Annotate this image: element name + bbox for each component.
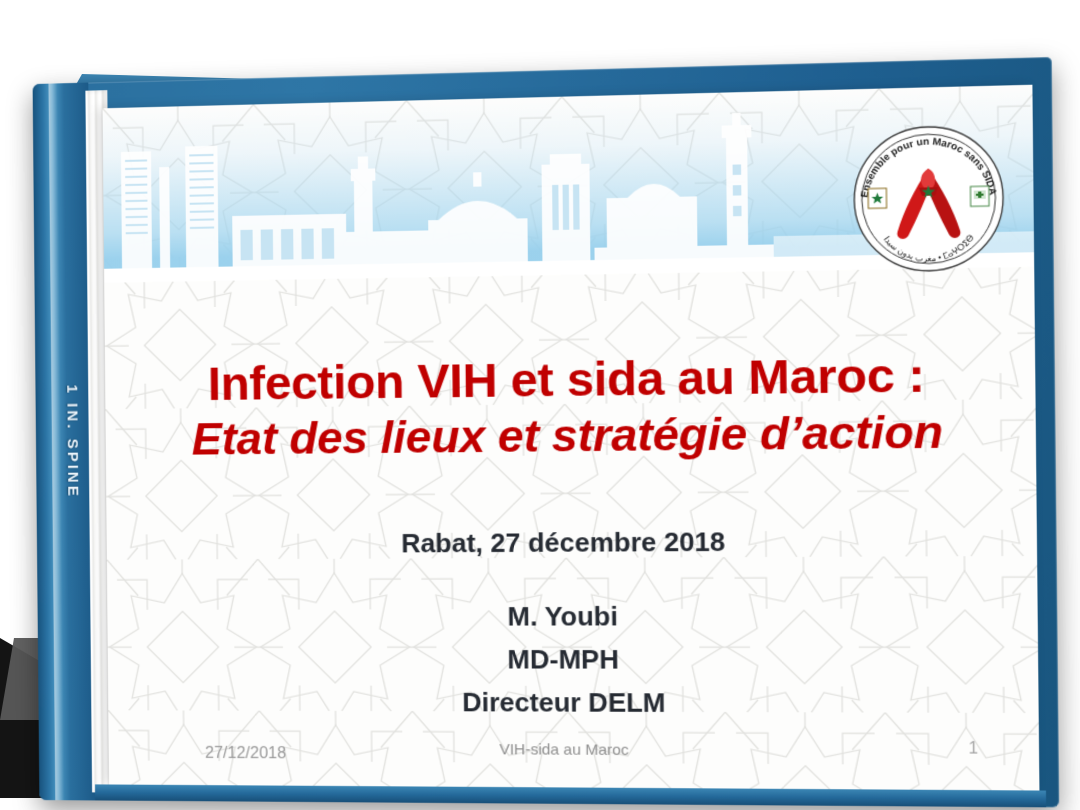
maroc-sans-sida-emblem: Ensemble pour un Maroc sans SIDA مغرب بد… [849, 121, 1008, 276]
ministry-health-badge [970, 186, 989, 206]
morocco-coat-of-arms [868, 188, 886, 208]
book-spine-label: 1 IN. SPINE [62, 301, 82, 582]
slide-place-date: Rabat, 27 décembre 2018 [107, 524, 1038, 560]
presentation-slide: Ensemble pour un Maroc sans SIDA مغرب بد… [103, 85, 1040, 791]
book-spine-gloss [48, 83, 64, 800]
slide-title-line1: Infection VIH et sida au Maroc : [105, 346, 1036, 410]
slide-title-line2: Etat des lieux et stratégie d’action [105, 403, 1036, 467]
slide-title-block: Infection VIH et sida au Maroc : Etat de… [105, 346, 1036, 466]
book-front-cover: 1 IN. SPINE [33, 57, 1060, 807]
slide-author-block: M. Youbi MD-MPH Directeur DELM [107, 594, 1039, 726]
slide-book-mockup: 1 IN. SPINE [0, 0, 1080, 810]
author-role: Directeur DELM [108, 680, 1039, 726]
author-degree: MD-MPH [108, 638, 1039, 682]
author-name: M. Youbi [107, 594, 1038, 638]
footer-page-number: 1 [968, 740, 978, 759]
